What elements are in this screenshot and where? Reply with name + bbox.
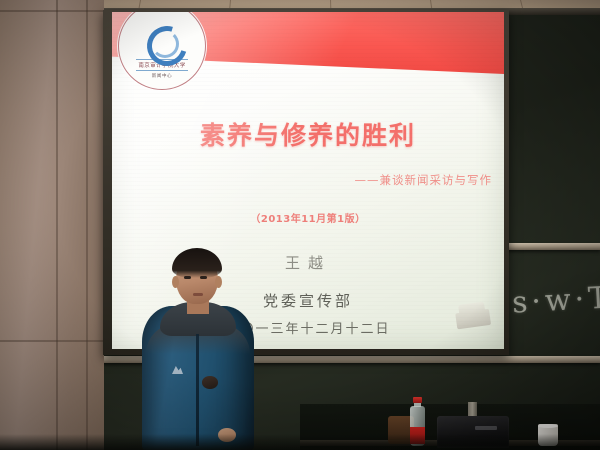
wall-panel-left — [0, 0, 104, 450]
slide-logo: 南京审计学院大学 新闻中心 — [118, 12, 206, 90]
slide-title: 素养与修养的胜利 — [112, 116, 504, 152]
laptop — [437, 414, 509, 448]
logo-org-sub: 新闻中心 — [152, 73, 172, 79]
circular-arc-icon — [147, 26, 177, 56]
water-bottle — [410, 398, 425, 446]
presenter — [138, 250, 258, 450]
slide-edition: （2013年11月第1版） — [112, 210, 504, 225]
book-stack-icon — [452, 298, 496, 337]
slide-subtitle: ——兼谈新闻采访与写作 — [355, 172, 493, 188]
paper-cup — [538, 424, 558, 446]
screenshot-scene: s·w·T 南京审计学院大学 新闻中心 素养与修养的胜利 ——兼谈新闻采访与写作… — [0, 0, 600, 450]
chalk-note: s·w·T — [511, 280, 600, 320]
